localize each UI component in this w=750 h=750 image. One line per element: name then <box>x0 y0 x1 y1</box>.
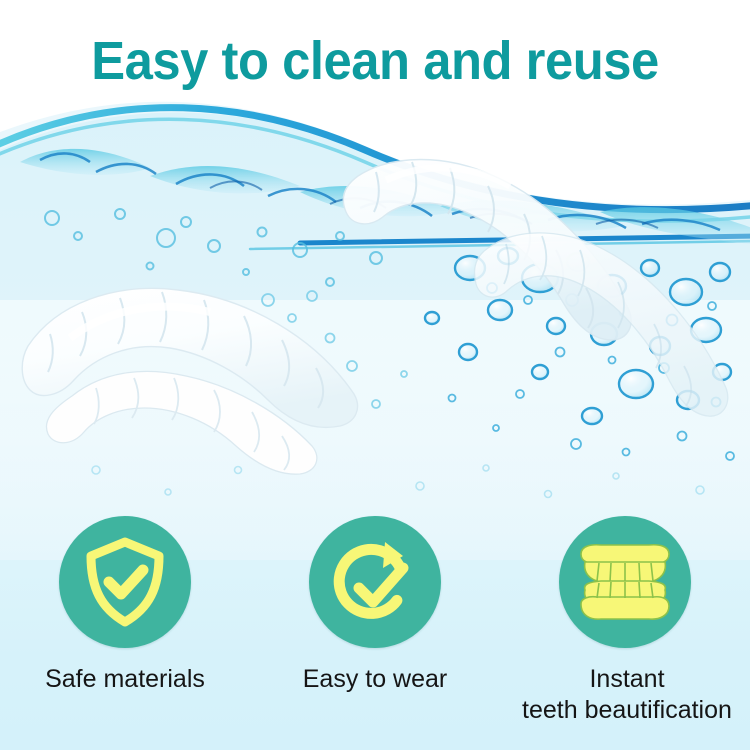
veneer-lower-left <box>10 268 370 523</box>
feature-icon-circle <box>309 516 441 648</box>
veneer-lower-right <box>470 212 750 447</box>
product-poster: Easy to clean and reuse Safe materials <box>0 0 750 750</box>
feature-label: Instant teeth beautification <box>512 664 742 725</box>
feature-easy-to-wear[interactable]: Easy to wear <box>250 516 500 695</box>
feature-label: Easy to wear <box>303 664 448 695</box>
refresh-check-icon <box>329 536 421 628</box>
shield-check-icon <box>81 536 169 628</box>
page-title: Easy to clean and reuse <box>23 33 728 90</box>
feature-instant-beautification[interactable]: Instant teeth beautification <box>500 516 750 725</box>
dentures-icon <box>575 538 675 626</box>
feature-icon-circle <box>59 516 191 648</box>
feature-list: Safe materials Easy to wear <box>0 516 750 750</box>
feature-icon-circle <box>559 516 691 648</box>
feature-label: Safe materials <box>45 664 205 695</box>
feature-safe-materials[interactable]: Safe materials <box>0 516 250 695</box>
